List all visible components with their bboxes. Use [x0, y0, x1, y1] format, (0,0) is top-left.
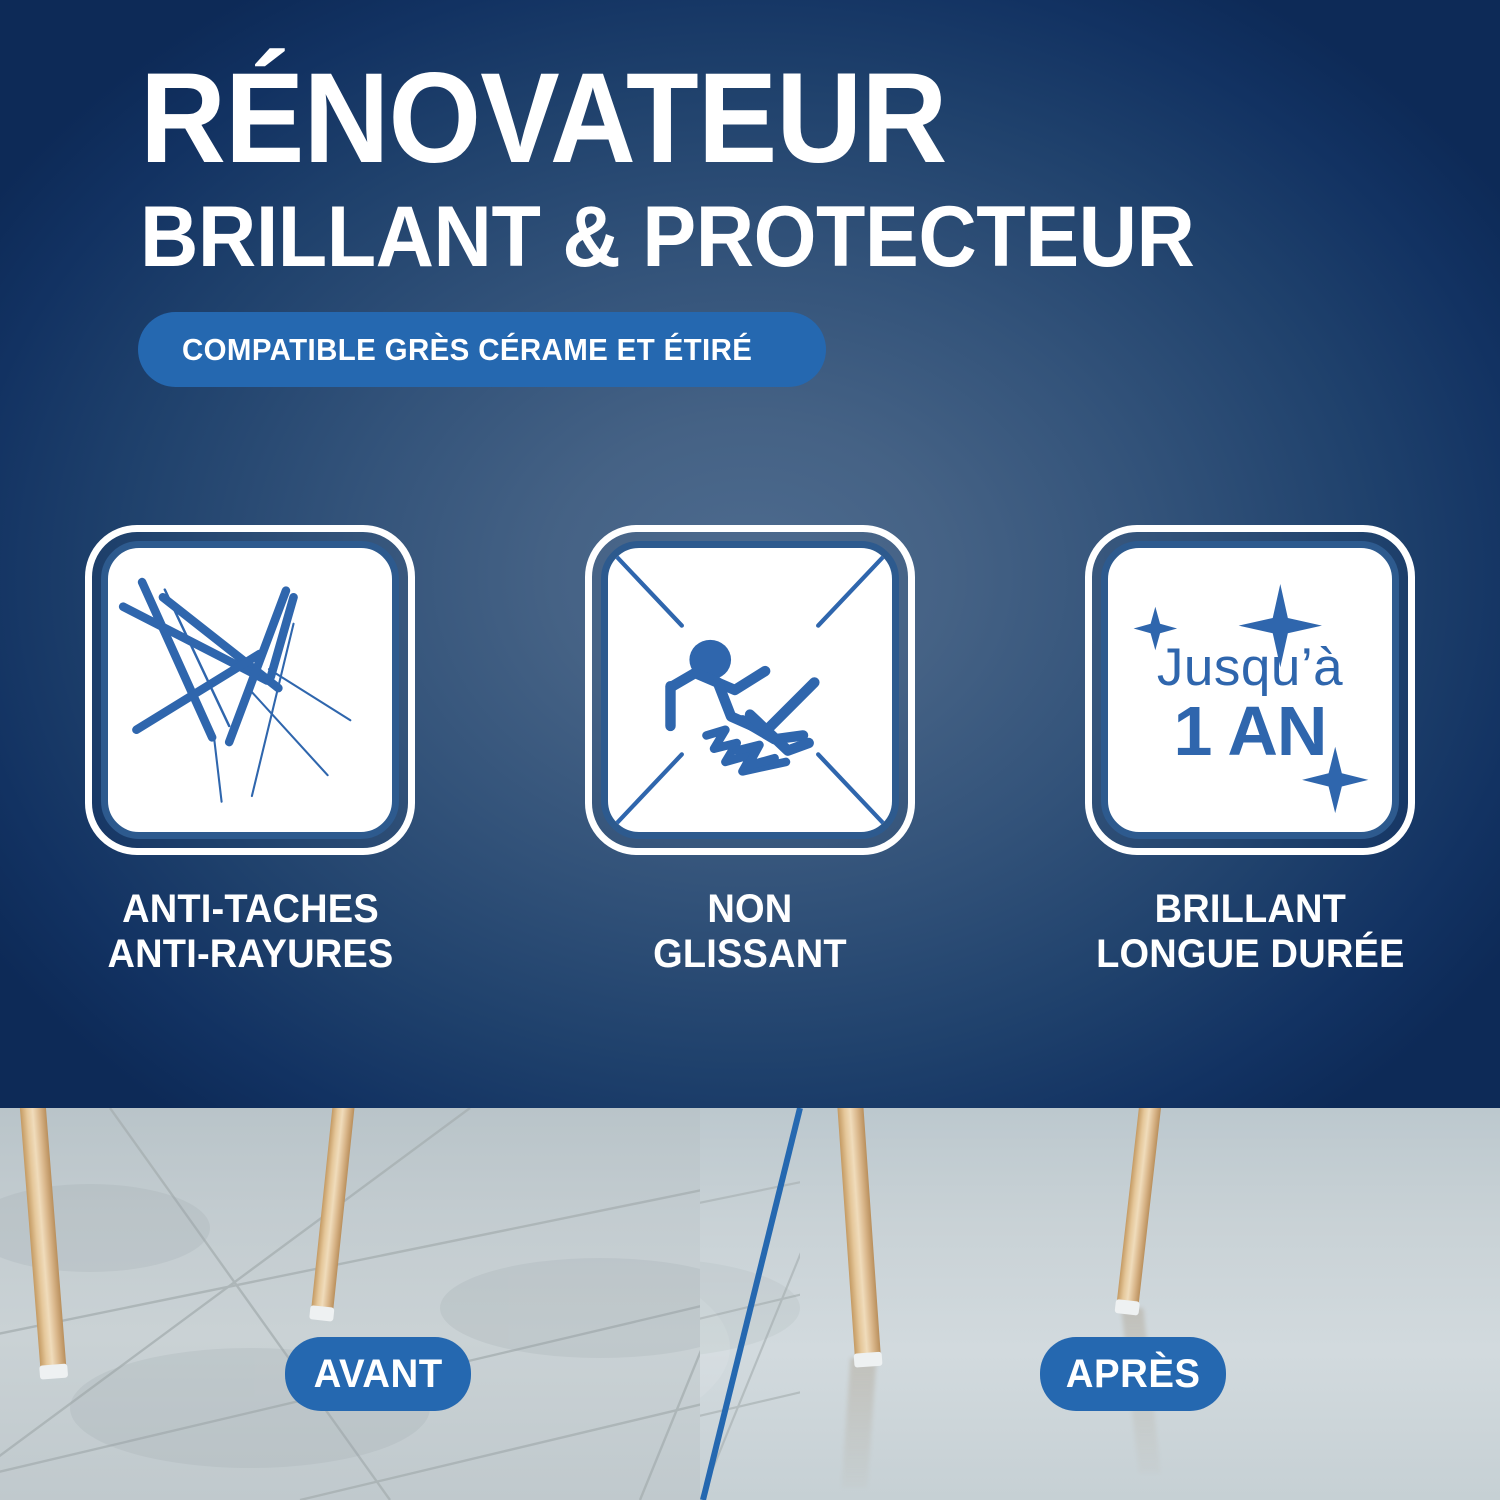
feature-non-glissant: NON GLISSANT	[580, 525, 920, 977]
compatibility-badge: COMPATIBLE GRÈS CÉRAME ET ÉTIRÉ	[138, 312, 826, 387]
before-label-text: AVANT	[314, 1352, 443, 1397]
floor-after	[700, 1108, 1500, 1500]
sparkle-duration-icon: Jusqu’à 1 AN	[1101, 541, 1399, 839]
infographic-root: RÉNOVATEUR BRILLANT & PROTECTEUR COMPATI…	[0, 0, 1500, 1500]
feature-row: ANTI-TACHES ANTI-RAYURES	[0, 525, 1500, 977]
feature-label: ANTI-TACHES ANTI-RAYURES	[107, 887, 393, 977]
feature-anti-taches: ANTI-TACHES ANTI-RAYURES	[80, 525, 420, 977]
feature-label-line-2: GLISSANT	[653, 932, 847, 977]
feature-label-line-1: BRILLANT	[1096, 887, 1404, 932]
chair-foot-cap	[1115, 1299, 1140, 1316]
slippery-floor-icon	[601, 541, 899, 839]
feature-icon-tile	[585, 525, 915, 855]
photo-half-before	[0, 1108, 760, 1500]
compatibility-badge-label: COMPATIBLE GRÈS CÉRAME ET ÉTIRÉ	[182, 332, 752, 368]
title-line-2: BRILLANT & PROTECTEUR	[140, 194, 1315, 280]
photo-half-after	[700, 1108, 1500, 1500]
tile-floor-surface	[700, 1108, 1500, 1500]
page-title: RÉNOVATEUR BRILLANT & PROTECTEUR	[140, 58, 1390, 280]
duration-text-block: Jusqu’à 1 AN	[1108, 548, 1392, 832]
after-label-pill: APRÈS	[1040, 1337, 1226, 1411]
feature-label-line-1: ANTI-TACHES	[107, 887, 393, 932]
chair-foot-cap	[309, 1305, 334, 1321]
chair-foot-cap	[39, 1364, 68, 1380]
before-label-pill: AVANT	[285, 1337, 471, 1411]
duration-value-text: 1 AN	[1174, 696, 1327, 766]
floor-before	[0, 1108, 760, 1500]
feature-label: BRILLANT LONGUE DURÉE	[1096, 887, 1404, 977]
feature-label: NON GLISSANT	[653, 887, 847, 977]
feature-icon-tile: Jusqu’à 1 AN	[1085, 525, 1415, 855]
title-line-1: RÉNOVATEUR	[140, 58, 1303, 180]
feature-icon-tile	[85, 525, 415, 855]
scratch-lines-icon	[101, 541, 399, 839]
before-after-photo	[0, 1108, 1500, 1500]
duration-prefix-text: Jusqu’à	[1157, 641, 1343, 694]
feature-label-line-2: ANTI-RAYURES	[107, 932, 393, 977]
feature-label-line-2: LONGUE DURÉE	[1096, 932, 1404, 977]
feature-brillant-longue-duree: Jusqu’à 1 AN BRILLANT LONGUE DURÉE	[1080, 525, 1420, 977]
after-label-text: APRÈS	[1066, 1352, 1201, 1397]
chair-foot-cap	[854, 1352, 883, 1368]
feature-label-line-1: NON	[653, 887, 847, 932]
